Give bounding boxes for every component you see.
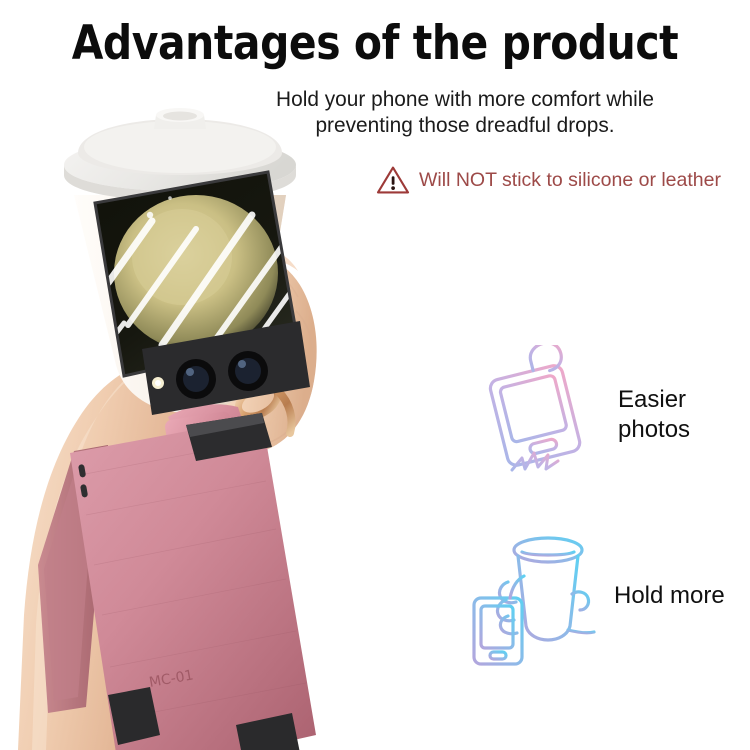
product-photo: Life Is Tasty — [0, 95, 470, 750]
flip-phone-case: MC-01 — [38, 155, 320, 750]
feature-label-hold-more: Hold more — [614, 581, 725, 611]
feature-label-easier-photos: Easier photos — [618, 385, 690, 445]
phone-with-ring-strap-icon — [478, 345, 596, 485]
feature-hold-more: Hold more — [468, 522, 725, 670]
page-title: Advantages of the product — [49, 16, 702, 72]
product-advantages-poster: Advantages of the product Hold your phon… — [0, 0, 750, 750]
hand-holding-cup-and-phone-icon — [468, 522, 600, 670]
feature-easier-photos: Easier photos — [478, 345, 690, 485]
